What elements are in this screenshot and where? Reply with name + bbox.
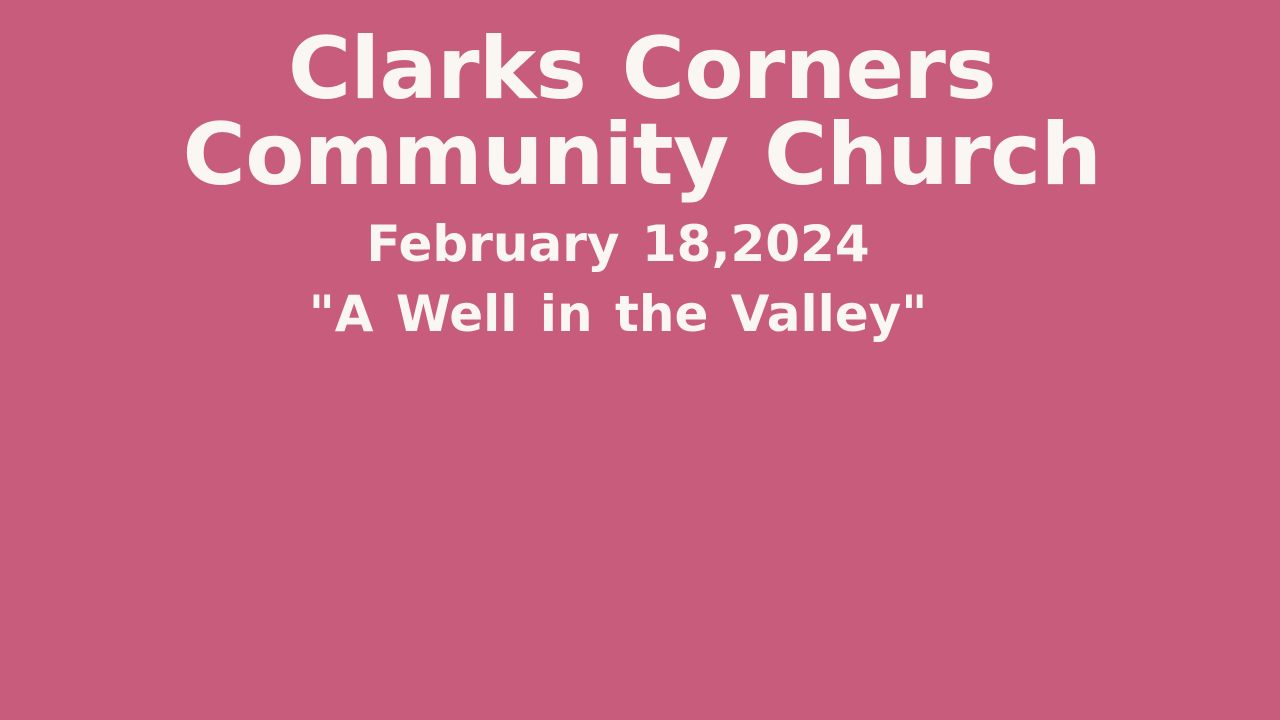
sermon-title: "A Well in the Valley" xyxy=(0,286,1238,342)
slide-text-block: Clarks Corners Community Church February… xyxy=(0,0,1280,342)
worship-slide: Clarks Corners Community Church February… xyxy=(0,0,1280,720)
service-date: February 18,2024 xyxy=(0,216,1238,272)
slide-empty-area xyxy=(0,360,1280,720)
church-name-heading: Clarks Corners Community Church xyxy=(137,0,1147,198)
